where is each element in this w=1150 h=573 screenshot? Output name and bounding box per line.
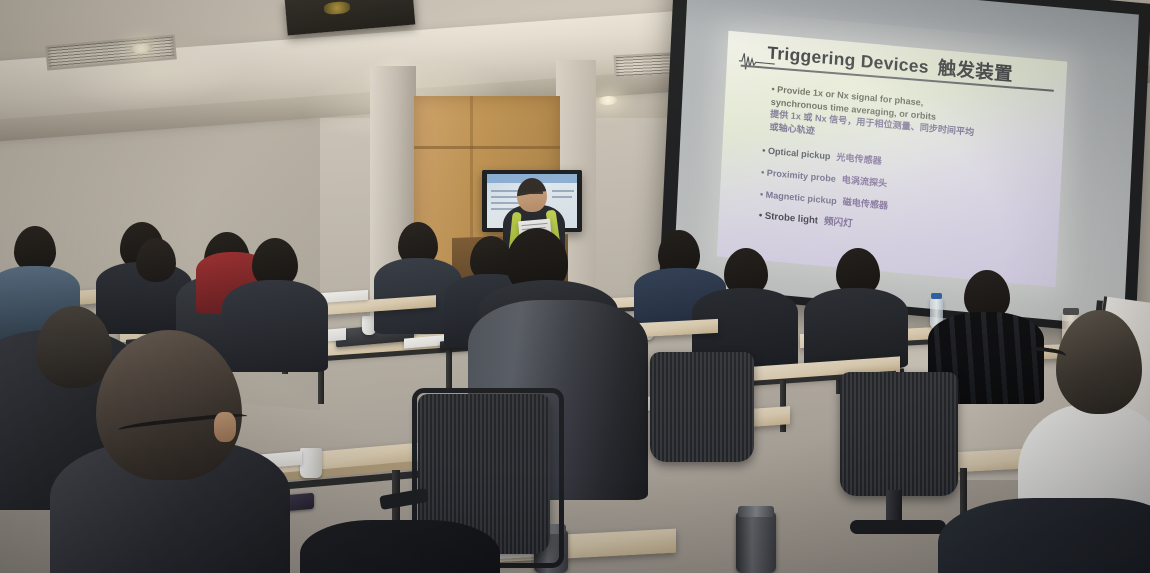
- slide-bullet-4: • Magnetic pickup磁电传感器: [760, 188, 889, 212]
- monitor-text-line: [552, 190, 574, 192]
- bullet-2-cn: 光电传感器: [836, 152, 882, 166]
- bullet-4-text: • Magnetic pickup: [760, 189, 837, 206]
- attendee-body: [222, 280, 328, 372]
- jar-lid: [1063, 308, 1079, 315]
- slide-title-en: Triggering Devices: [767, 42, 929, 77]
- bullet-5-cn: 频闪灯: [824, 216, 853, 230]
- slide-bullet-5: • Strobe light频闪灯: [758, 210, 852, 231]
- thermos-cap: [738, 506, 774, 517]
- bullet-2-text: • Optical pickup: [762, 145, 831, 161]
- bottle-cap: [931, 293, 942, 299]
- paper-cup-front: [300, 448, 322, 478]
- attendee-head: [136, 238, 176, 282]
- slide-bullet-1: • Provide 1x or Nx signal for phase, syn…: [769, 83, 976, 152]
- bullet-4-cn: 磁电传感器: [842, 197, 888, 211]
- thermos-flask: [736, 512, 776, 573]
- attendee-front-ear: [214, 412, 236, 442]
- classroom-photo-scene: Triggering Devices触发装置 • Provide 1x or N…: [0, 0, 1150, 573]
- attendee-bottom-center-body: [300, 520, 500, 573]
- chair-base: [850, 520, 946, 534]
- bullet-5-text: • Strobe light: [759, 210, 819, 226]
- attendee-bottom-right-body: [938, 498, 1150, 573]
- desk-leg: [446, 346, 452, 392]
- bullet-3-cn: 电涡流探头: [842, 175, 888, 189]
- monitor-text-line: [491, 196, 519, 198]
- bullet-3-text: • Proximity probe: [761, 167, 836, 184]
- office-chair-mid[interactable]: [650, 352, 754, 462]
- presenter-glasses: [521, 192, 543, 199]
- slide-bullet-2: • Optical pickup光电传感器: [762, 144, 882, 167]
- monitor-text-line: [552, 196, 572, 198]
- projected-slide: Triggering Devices触发装置 • Provide 1x or N…: [717, 31, 1068, 288]
- office-chair-right[interactable]: [840, 372, 958, 496]
- slide-bullet-3: • Proximity probe电涡流探头: [761, 166, 888, 190]
- door-seam-horizontal: [414, 146, 560, 149]
